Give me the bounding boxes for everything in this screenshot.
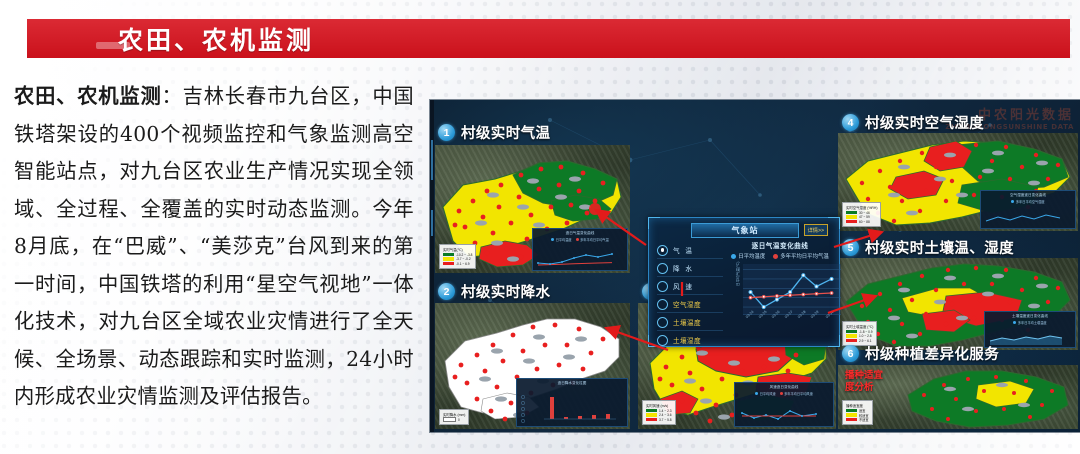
radio-option-wind-speed[interactable]: 风 速 [657, 278, 723, 295]
chart-title: 逐日气温变化曲线 [727, 240, 833, 250]
inset-series-label: 多年平均日平均气温 [580, 237, 609, 242]
legend-swatch [846, 211, 857, 215]
radio-ring-icon [657, 245, 668, 256]
station-header: 气象站 [691, 223, 799, 238]
inset-line-chart-1 [534, 249, 620, 269]
series-dot-red-icon [780, 392, 783, 395]
legend-swatch [646, 409, 657, 413]
map-legend-4: 实时空气湿度 (%RH) 30 ~ 46 47 ~ 59 60 ~ 88 [842, 202, 881, 228]
map-legend-1: 实时气温(℃) -10.2 ~ -3.8 -3.7 ~ -0.2 -0.1 ~ … [439, 244, 476, 270]
inset-series-label: 多年日平均土壤温度 [1018, 320, 1047, 325]
map-legend-2: 实时降水 (mm) 0 [439, 409, 469, 426]
legend-title: 实时气温(℃) [443, 247, 472, 252]
legend-swatch [846, 418, 857, 422]
map-legend-3: 实时风速 (m/s) 1.4 ~ 2.3 2.4 ~ 3.6 3.7 ~ 5.8 [642, 400, 676, 426]
radio-ring-icon [657, 317, 668, 328]
corner-tr-decoration [828, 217, 840, 229]
chart-y-axis-label: 日平均气温(℃) [736, 262, 741, 286]
inset-title: 风速逐日变化曲线 [738, 385, 830, 390]
station-temperature-chart: 逐日气温变化曲线 日平均温度 多年平均日平均气温 日平均气温(℃) [727, 240, 833, 340]
panel-caption: 村级实时降水 [461, 281, 550, 302]
legend-value: 1.4 ~ 2.3 [659, 409, 672, 413]
inset-title: 逐日气温变化曲线 [536, 231, 624, 236]
map-legend-6: 播种适宜度 适宜 较适宜 不适宜 [842, 400, 873, 426]
panel-label-6: 6 村级种植差异化服务 [842, 343, 999, 364]
map-inset-chart-1: 逐日气温变化曲线 日平均温度 多年平均日平均气温 [532, 228, 628, 271]
legend-label: 日平均温度 [738, 252, 765, 260]
legend-swatch [646, 413, 657, 417]
legend-swatch [846, 334, 857, 338]
legend-dot-red-icon [773, 254, 778, 259]
station-more-button[interactable]: 详情>> [804, 224, 828, 236]
legend-row: -10.2 ~ -3.8 [443, 253, 472, 257]
legend-row: 30 ~ 46 [846, 211, 877, 215]
panel-caption: 村级种植差异化服务 [865, 343, 999, 364]
paragraph-lead: 农田、农机监测 [14, 84, 162, 108]
weather-station-panel[interactable]: 气象站 详情>> 气 温 降 水 风 速 空气湿度 土壤温度 [648, 217, 840, 347]
legend-swatch [846, 409, 857, 413]
inset-series-label: 日平均风速 [760, 391, 776, 396]
legend-value: -10.2 ~ -3.8 [456, 253, 472, 257]
legend-swatch [443, 257, 454, 261]
legend-value: -0.1 ~ 6.9 [456, 262, 470, 266]
map-inset-chart-2: 逐日降水变化柱图 [516, 378, 628, 427]
legend-value: -1.8 ~ 0.9 [859, 330, 873, 334]
legend-row: 1.0 ~ 2.8 [846, 334, 873, 338]
legend-row: 不适宜 [846, 418, 869, 422]
radio-ring-icon [657, 335, 668, 346]
legend-row: -0.1 ~ 6.9 [443, 262, 472, 266]
map-tile-2: 实时降水 (mm) 0 逐日降水变化柱图 [435, 303, 630, 429]
panel6-overlay-text: 播种适宜 度分析 [845, 370, 883, 394]
radio-label: 空气湿度 [673, 299, 701, 309]
map-tile-5: 实时土壤温度 (℃) -1.8 ~ 0.9 1.0 ~ 2.8 2.9 ~ 6.… [838, 258, 1078, 350]
corner-tl-decoration [648, 217, 660, 229]
legend-row: 2.4 ~ 3.6 [646, 413, 672, 417]
radio-option-soil-humidity[interactable]: 土壤湿度 [657, 332, 723, 348]
inset-legend: 多年日平均土壤温度 [988, 320, 1072, 325]
radio-label: 气 温 [673, 245, 694, 255]
legend-title: 播种适宜度 [846, 403, 869, 408]
radio-ring-icon [657, 263, 668, 274]
legend-dot-blue-icon [731, 254, 736, 259]
legend-title: 实时风速 (m/s) [646, 403, 672, 408]
inset-series-red: 多年平均日平均气温 [576, 237, 609, 242]
legend-swatch [846, 215, 857, 219]
legend-title: 实时土壤温度 (℃) [846, 324, 873, 329]
legend-label: 多年平均日平均气温 [780, 252, 829, 260]
radio-option-air-temperature[interactable]: 气 温 [657, 242, 723, 259]
panel-caption: 村级实时空气湿度 [865, 112, 984, 133]
paragraph-rest: ：吉林长春市九台区，中国铁塔架设的400个视频监控和气象监测高空智能站点，对九台… [14, 84, 414, 408]
legend-row: 60 ~ 88 [846, 220, 877, 224]
panel-number-bubble: 5 [842, 239, 859, 256]
legend-value: 3.7 ~ 5.8 [659, 418, 672, 422]
inset-series-label: 日平均温度 [556, 237, 572, 242]
map-inset-chart-3: 风速逐日变化曲线 日平均风速 多年平均日平均风速 [734, 382, 834, 427]
map-inset-chart-4: 空气湿度逐日变化曲线 多年日平均空气湿度 [980, 190, 1076, 229]
map-tile-4: 实时空气湿度 (%RH) 30 ~ 46 47 ~ 59 60 ~ 88 空气湿… [838, 133, 1078, 231]
legend-entry-daily-avg: 日平均温度 [731, 252, 765, 260]
panel-label-2: 2 村级实时降水 [438, 281, 550, 302]
series-dot-blue-icon [755, 392, 758, 395]
series-dot-blue-icon [1011, 200, 1014, 203]
legend-swatch [443, 262, 454, 266]
legend-row: -1.8 ~ 0.9 [846, 330, 873, 334]
series-dot-red-icon [576, 238, 579, 241]
inset-line-chart-4 [982, 211, 1068, 227]
panel-number-bubble: 6 [842, 345, 859, 362]
inset-series-red: 多年平均日平均风速 [780, 391, 813, 396]
inset-series-label: 多年平均日平均风速 [784, 391, 813, 396]
monitoring-dashboard-image: 中农阳光数据 ZHONGNONGSUNSHINE DATA 1 村级实时气温 [430, 100, 1080, 432]
inset-series-blue: 日平均温度 [551, 237, 571, 242]
legend-swatch [846, 220, 857, 224]
inset-series-blue: 日平均风速 [755, 391, 775, 396]
panel-label-5: 5 村级实时土壤温、湿度 [842, 237, 1014, 258]
inset-legend: 多年日平均空气湿度 [984, 199, 1072, 204]
legend-value: 2.4 ~ 3.6 [659, 413, 672, 417]
radio-ring-icon [657, 281, 668, 292]
legend-value: -3.7 ~ -0.2 [456, 257, 471, 261]
radio-label: 土壤温度 [673, 317, 701, 327]
legend-title: 实时空气湿度 (%RH) [846, 205, 877, 210]
body-paragraph: 农田、农机监测：吉林长春市九台区，中国铁塔架设的400个视频监控和气象监测高空智… [14, 78, 414, 416]
legend-value: 1.0 ~ 2.8 [859, 334, 872, 338]
legend-swatch [846, 339, 857, 343]
inset-series-blue: 多年日平均空气湿度 [1011, 199, 1044, 204]
series-dot-blue-icon [1013, 321, 1016, 324]
legend-entry-multiyear-avg: 多年平均日平均气温 [773, 252, 829, 260]
legend-row: 47 ~ 59 [846, 215, 877, 219]
inset-legend: 日平均风速 多年平均日平均风速 [738, 391, 830, 396]
inset-legend: 日平均温度 多年平均日平均气温 [536, 237, 624, 242]
page-title: 农田、农机监测 [118, 18, 314, 59]
legend-swatch [846, 413, 857, 417]
inset-series-label: 多年日平均空气湿度 [1016, 199, 1045, 204]
radio-option-precipitation[interactable]: 降 水 [657, 260, 723, 277]
legend-value: 30 ~ 46 [859, 211, 870, 215]
panel-label-4: 4 村级实时空气湿度 [842, 112, 984, 133]
inset-title: 土壤温度逐日变化曲线 [988, 314, 1072, 319]
radio-label: 降 水 [673, 263, 694, 273]
legend-value: 47 ~ 59 [859, 215, 870, 219]
legend-swatch [846, 330, 857, 334]
station-metric-radio-group[interactable]: 气 温 降 水 风 速 空气湿度 土壤温度 土壤湿度 [657, 242, 723, 349]
inset-title: 空气湿度逐日变化曲线 [984, 193, 1072, 198]
panel-number-bubble: 1 [438, 124, 455, 141]
legend-value: 60 ~ 88 [859, 220, 870, 224]
legend-row: -3.7 ~ -0.2 [443, 257, 472, 261]
legend-swatch [646, 418, 657, 422]
inset-title: 逐日降水变化柱图 [520, 381, 624, 386]
panel-caption: 村级实时土壤温、湿度 [865, 237, 1014, 258]
legend-value: 2.9 ~ 6.1 [859, 339, 872, 343]
panel-number-bubble: 2 [438, 283, 455, 300]
legend-value: 不适宜 [859, 417, 869, 422]
radio-ring-icon [657, 299, 668, 310]
legend-value: 0 [458, 418, 460, 422]
radio-label: 风 速 [673, 281, 694, 291]
chart-legend: 日平均温度 多年平均日平均气温 [727, 252, 833, 260]
legend-row: 2.9 ~ 6.1 [846, 339, 873, 343]
legend-swatch [443, 253, 454, 257]
inset-series-blue: 多年日平均土壤温度 [1013, 320, 1046, 325]
map-tile-1: 实时气温(℃) -10.2 ~ -3.8 -3.7 ~ -0.2 -0.1 ~ … [435, 145, 630, 273]
dashboard-left-strip [430, 100, 434, 432]
inset-bar-chart-2 [518, 393, 620, 425]
chart-plot-area: 日平均气温(℃) [737, 264, 833, 324]
legend-row: 0 [443, 418, 465, 422]
legend-row: 1.4 ~ 2.3 [646, 409, 672, 413]
radio-option-air-humidity[interactable]: 空气湿度 [657, 296, 723, 313]
radio-label: 土壤湿度 [673, 335, 701, 345]
map-tile-6: 播种适宜 度分析 播种适宜度 适宜 较适宜 不适宜 [838, 365, 1078, 429]
panel-number-bubble: 4 [842, 114, 859, 131]
legend-row: 3.7 ~ 5.8 [646, 418, 672, 422]
series-dot-blue-icon [551, 238, 554, 241]
panel-label-1: 1 村级实时气温 [438, 122, 550, 143]
inset-line-chart-3 [736, 405, 826, 425]
legend-swatch [443, 417, 456, 423]
radio-option-soil-temperature[interactable]: 土壤温度 [657, 314, 723, 331]
panel-caption: 村级实时气温 [461, 122, 550, 143]
